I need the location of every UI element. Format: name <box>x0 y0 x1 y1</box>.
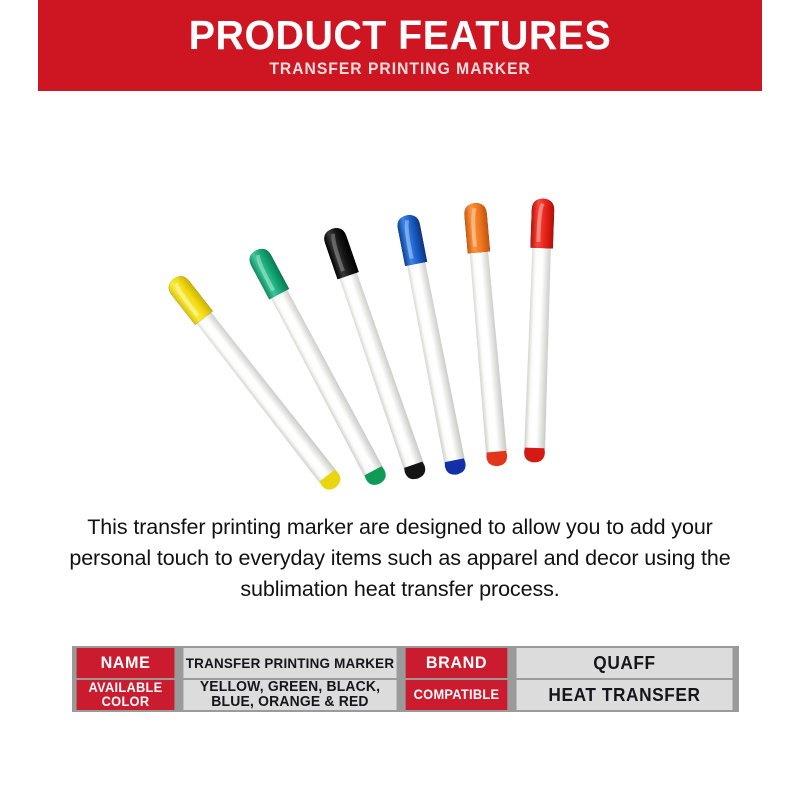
spec-label-brand: BRAND <box>406 648 508 678</box>
spec-label-available-color-line2: COLOR <box>102 694 150 709</box>
header-banner: PRODUCT FEATURES TRANSFER PRINTING MARKE… <box>38 0 762 91</box>
spec-value-brand: QUAFF <box>517 648 733 678</box>
marker-red <box>523 198 555 463</box>
spec-label-name: NAME <box>77 648 175 678</box>
spec-label-available-color: AVAILABLE COLOR <box>77 680 175 710</box>
page-subtitle: TRANSFER PRINTING MARKER <box>269 60 530 77</box>
spec-value-name: TRANSFER PRINTING MARKER <box>183 648 396 678</box>
table-row: NAME TRANSFER PRINTING MARKER BRAND QUAF… <box>74 648 737 678</box>
spec-label-compatible: COMPATIBLE <box>406 680 508 710</box>
markers-illustration <box>150 100 650 490</box>
spec-value-compatible: HEAT TRANSFER <box>517 680 733 710</box>
spec-value-available-color: YELLOW, GREEN, BLACK, BLUE, ORANGE & RED <box>183 680 396 710</box>
product-photo <box>150 100 650 490</box>
page-title: PRODUCT FEATURES <box>189 15 611 56</box>
spec-value-available-color-line2: BLUE, ORANGE & RED <box>211 694 368 710</box>
marker-orange <box>463 202 508 467</box>
spec-label-available-color-line1: AVAILABLE <box>88 680 162 695</box>
table-row: AVAILABLE COLOR YELLOW, GREEN, BLACK, BL… <box>74 680 737 710</box>
specification-table: NAME TRANSFER PRINTING MARKER BRAND QUAF… <box>72 646 739 712</box>
product-description: This transfer printing marker are design… <box>60 512 740 605</box>
spec-value-available-color-line1: YELLOW, GREEN, BLACK, <box>200 679 380 695</box>
